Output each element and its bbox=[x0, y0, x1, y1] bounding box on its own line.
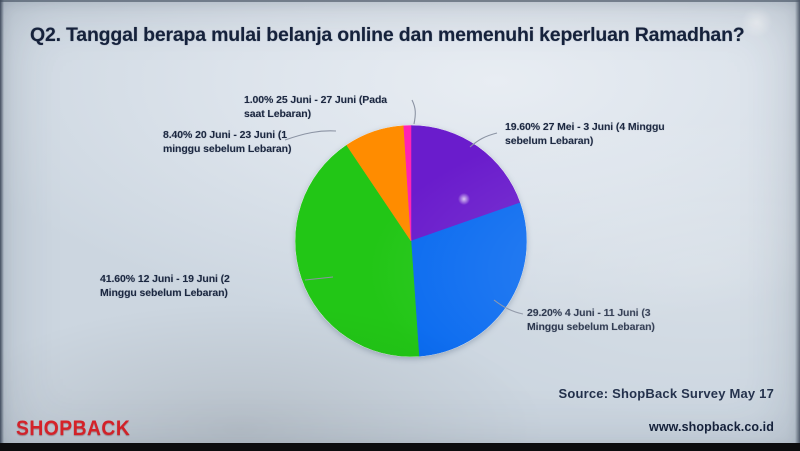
pie-chart-svg bbox=[294, 124, 528, 358]
slide-bottom-bar bbox=[0, 443, 800, 451]
slice-label-line1: 1.00% 25 Juni - 27 Juni (Pada bbox=[244, 93, 429, 107]
slide-title: Q2. Tanggal berapa mulai belanja online … bbox=[30, 24, 770, 47]
slice-label-line2: Minggu sebelum Lebaran) bbox=[527, 320, 717, 334]
slice-label-20-juni-23-juni: 8.40% 20 Juni - 23 Juni (1 minggu sebelu… bbox=[163, 128, 338, 157]
slice-label-line1: 29.20% 4 Juni - 11 Juni (3 bbox=[527, 306, 717, 320]
slice-label-line2: saat Lebaran) bbox=[244, 107, 429, 121]
slice-label-line1: 19.60% 27 Mei - 3 Juni (4 Minggu bbox=[505, 120, 705, 134]
slide-right-edge bbox=[795, 0, 800, 444]
presentation-slide: Q2. Tanggal berapa mulai belanja online … bbox=[0, 0, 800, 451]
website-url: www.shopback.co.id bbox=[649, 420, 774, 434]
slice-label-line2: Minggu sebelum Lebaran) bbox=[100, 286, 300, 300]
slice-label-27-mei-3-juni: 19.60% 27 Mei - 3 Juni (4 Minggu sebelum… bbox=[505, 120, 705, 149]
pie-chart bbox=[294, 124, 528, 358]
slice-label-line1: 8.40% 20 Juni - 23 Juni (1 bbox=[163, 128, 338, 142]
slice-label-12-juni-19-juni: 41.60% 12 Juni - 19 Juni (2 Minggu sebel… bbox=[100, 272, 300, 301]
slice-label-4-juni-11-juni: 29.20% 4 Juni - 11 Juni (3 Minggu sebelu… bbox=[527, 306, 717, 335]
shopback-logo: SHOPBACK bbox=[16, 417, 130, 441]
slice-label-line1: 41.60% 12 Juni - 19 Juni (2 bbox=[100, 272, 300, 286]
slice-label-line2: minggu sebelum Lebaran) bbox=[163, 142, 338, 156]
slice-label-25-juni-27-juni: 1.00% 25 Juni - 27 Juni (Pada saat Lebar… bbox=[244, 93, 429, 122]
slide-top-edge bbox=[0, 0, 800, 2]
source-note: Source: ShopBack Survey May 17 bbox=[558, 386, 774, 401]
slice-label-line2: sebelum Lebaran) bbox=[505, 134, 705, 148]
slide-left-edge bbox=[0, 0, 4, 444]
